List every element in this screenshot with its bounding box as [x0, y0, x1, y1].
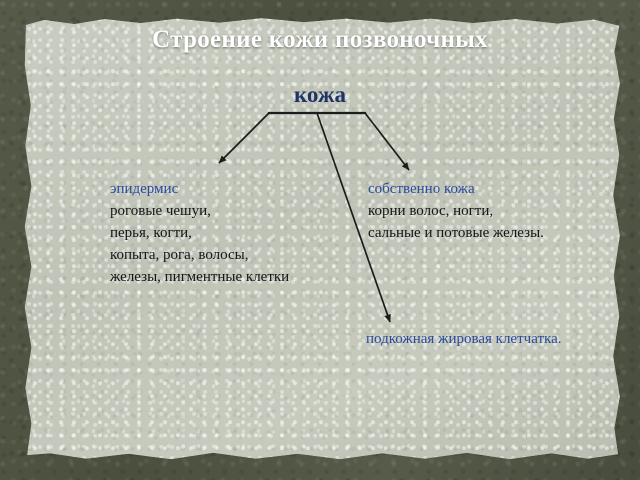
branch-dermis-line-2: сальные и потовые железы. — [368, 222, 544, 244]
slide-content: Строение кожи позвоночных кожа эпидермис… — [0, 0, 640, 480]
branch-hypodermis: подкожная жировая клетчатка. — [366, 328, 561, 350]
branch-dermis-line-1: корни волос, ногти, — [368, 200, 544, 222]
branch-dermis: собственно кожа корни волос, ногти, саль… — [368, 178, 544, 244]
branch-epidermis-line-1: роговые чешуи, — [110, 200, 289, 222]
branch-dermis-heading: собственно кожа — [368, 178, 544, 200]
connector-to-dermis — [365, 113, 409, 170]
connector-to-epidermis — [219, 113, 269, 163]
branch-epidermis-line-4: железы, пигментные клетки — [110, 266, 289, 288]
branch-hypodermis-heading: подкожная жировая клетчатка. — [366, 328, 561, 350]
branch-epidermis: эпидермис роговые чешуи, перья, когти, к… — [110, 178, 289, 288]
page-title: Строение кожи позвоночных — [0, 26, 640, 54]
diagram-connectors — [0, 0, 640, 480]
branch-epidermis-line-2: перья, когти, — [110, 222, 289, 244]
diagram-root-node-label: кожа — [0, 82, 640, 108]
branch-epidermis-line-3: копыта, рога, волосы, — [110, 244, 289, 266]
branch-epidermis-heading: эпидермис — [110, 178, 289, 200]
slide-canvas: Строение кожи позвоночных кожа эпидермис… — [0, 0, 640, 480]
